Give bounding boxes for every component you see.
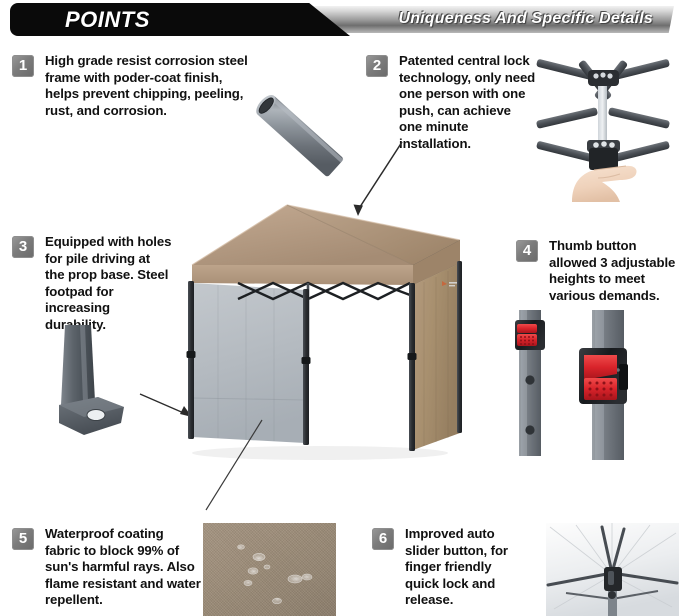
- infographic-page: POINTS Uniqueness And Specific Details 1…: [0, 0, 679, 616]
- canopy-leg-front-right: [409, 283, 415, 451]
- leg-with-thumb-button-small: [515, 310, 545, 456]
- hand-illustration: [572, 166, 637, 202]
- point-text: Waterproof coating fabric to block 99% o…: [45, 526, 202, 609]
- point-number-badge: 6: [372, 528, 394, 550]
- point-text: High grade resist corrosion steel frame …: [45, 53, 252, 119]
- banner-title: Uniqueness And Specific Details: [398, 9, 653, 29]
- points-tab: POINTS: [10, 3, 350, 36]
- points-tab-label: POINTS: [65, 7, 150, 32]
- header-banner: POINTS Uniqueness And Specific Details: [0, 3, 679, 36]
- canopy-leg-back-right: [457, 261, 462, 433]
- point-number-badge: 1: [12, 55, 34, 77]
- point-number-badge: 2: [366, 55, 388, 77]
- canopy-leg-front-center: [303, 289, 309, 445]
- point-number-badge: 4: [516, 240, 538, 262]
- canopy-leg-front-left: [188, 281, 194, 439]
- point-text: Patented central lock technology, only n…: [399, 53, 536, 153]
- bottom-lock-hub: [587, 140, 620, 170]
- top-lock-hub: [588, 70, 619, 86]
- canopy-underside-photo: [546, 523, 679, 616]
- point-number-badge: 5: [12, 528, 34, 550]
- canopy-valance-front: [192, 265, 413, 285]
- thumb-button-closeup: [579, 310, 628, 460]
- canopy-sidewall-gray: [192, 283, 305, 443]
- central-lock-photo: [528, 52, 679, 202]
- steel-footpad-photo: [28, 325, 178, 450]
- point-text: Equipped with holes for pile driving at …: [45, 234, 172, 334]
- point-number-badge: 3: [12, 236, 34, 258]
- pop-up-canopy-product-image: [170, 195, 515, 470]
- water-droplets: [238, 545, 312, 604]
- steel-tube-photo: [240, 78, 355, 198]
- point-text: Improved auto slider button, for finger …: [405, 526, 512, 609]
- point-text: Thumb button allowed 3 adjustable height…: [549, 238, 676, 304]
- waterproof-fabric-swatch-photo: [203, 523, 336, 616]
- thumb-button-photo: [505, 308, 679, 463]
